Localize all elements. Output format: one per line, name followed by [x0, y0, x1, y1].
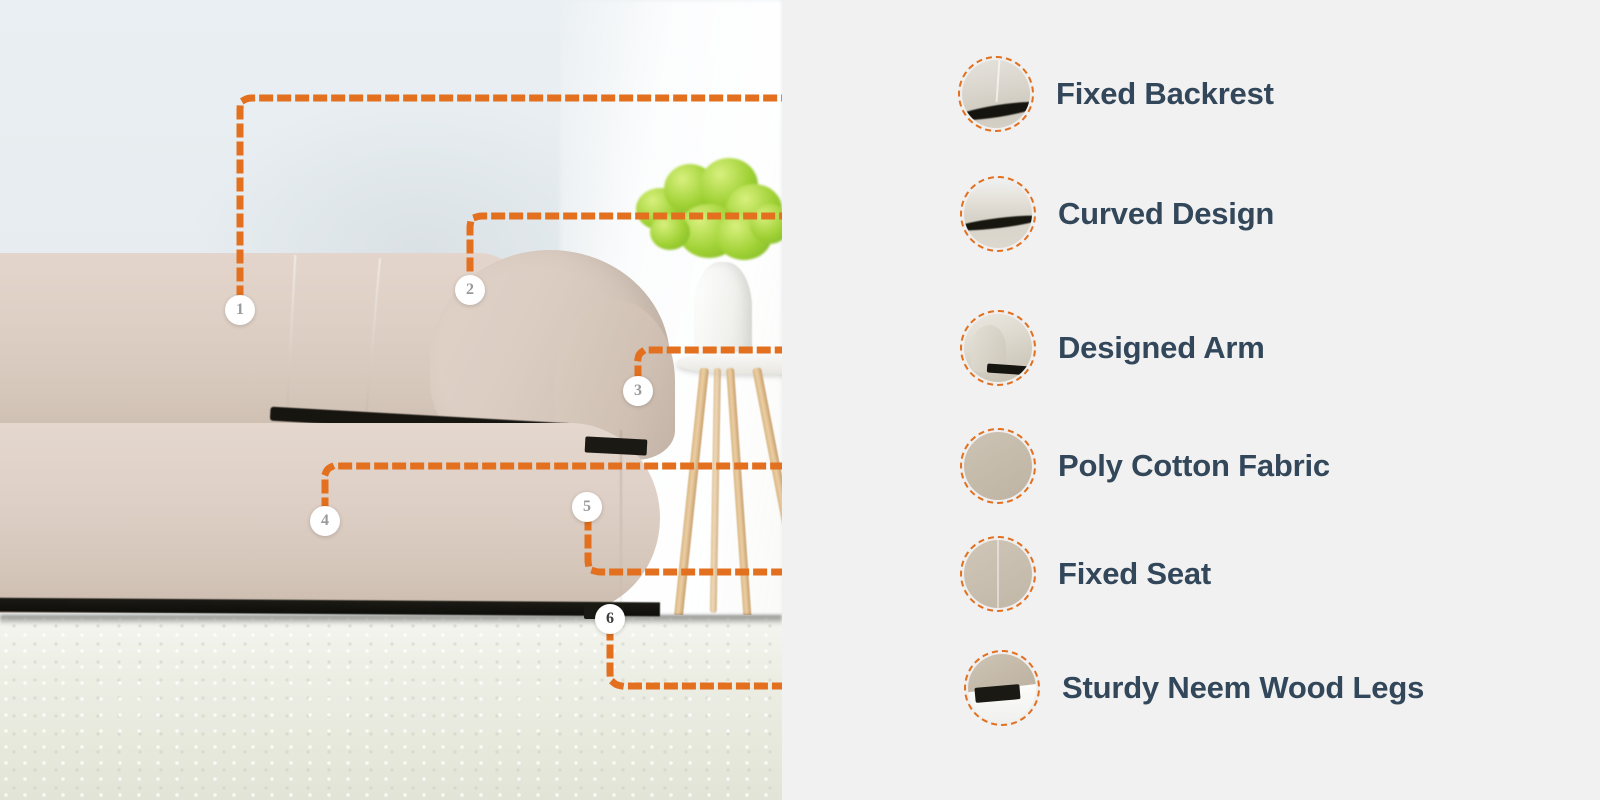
sofa	[0, 0, 782, 800]
marker-2[interactable]: 2	[455, 275, 485, 305]
marker-6[interactable]: 6	[595, 604, 625, 634]
feature-legend-panel: Fixed Backrest Curved Design Designed Ar…	[782, 0, 1600, 800]
legend-item-sturdy-neem-wood-legs[interactable]: Sturdy Neem Wood Legs	[964, 650, 1424, 726]
fixed-seat-thumb-icon	[960, 536, 1036, 612]
legend-label: Designed Arm	[1058, 330, 1265, 366]
marker-3[interactable]: 3	[623, 376, 653, 406]
curved-design-thumb-icon	[960, 176, 1036, 252]
legend-label: Fixed Backrest	[1056, 76, 1274, 112]
designed-arm-thumb-icon	[960, 310, 1036, 386]
product-feature-infographic: 1 2 3 4 5 6 Fixed Backrest Curved Design…	[0, 0, 1600, 800]
arm-base-trim	[585, 436, 648, 455]
wood-legs-thumb-icon	[964, 650, 1040, 726]
marker-1[interactable]: 1	[225, 295, 255, 325]
legend-label: Curved Design	[1058, 196, 1274, 232]
legend-label: Sturdy Neem Wood Legs	[1062, 670, 1424, 706]
legend-item-poly-cotton-fabric[interactable]: Poly Cotton Fabric	[960, 428, 1330, 504]
legend-item-fixed-seat[interactable]: Fixed Seat	[960, 536, 1211, 612]
backrest-thumb-icon	[958, 56, 1034, 132]
sofa-photo-panel	[0, 0, 782, 800]
seat-crease	[620, 430, 622, 605]
marker-5[interactable]: 5	[572, 492, 602, 522]
legend-item-fixed-backrest[interactable]: Fixed Backrest	[958, 56, 1274, 132]
fabric-swatch-thumb-icon	[960, 428, 1036, 504]
marker-4[interactable]: 4	[310, 506, 340, 536]
legend-item-designed-arm[interactable]: Designed Arm	[960, 310, 1265, 386]
legend-item-curved-design[interactable]: Curved Design	[960, 176, 1274, 252]
legend-label: Poly Cotton Fabric	[1058, 448, 1330, 484]
legend-label: Fixed Seat	[1058, 556, 1211, 592]
